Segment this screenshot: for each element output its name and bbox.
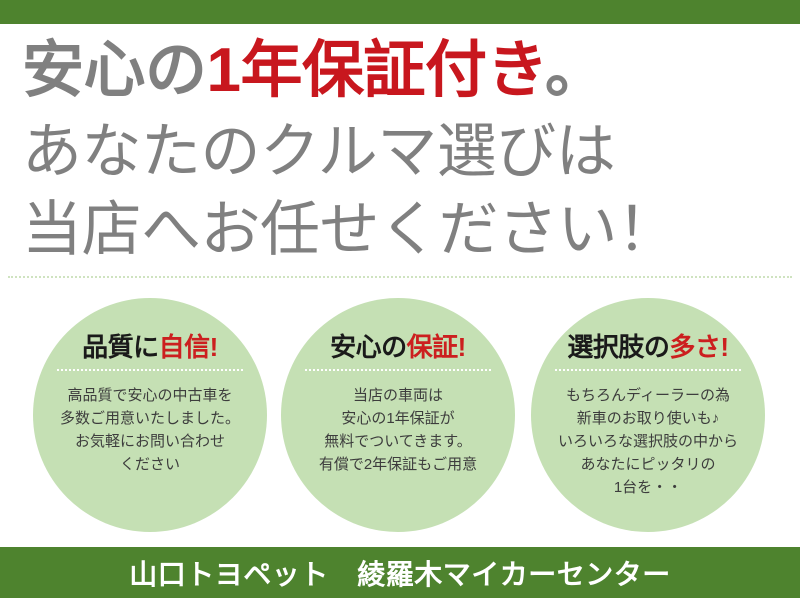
advertisement-banner: 安心の1年保証付き。 あなたのクルマ選びは 当店へお任せください！ 品質に自信!…	[0, 0, 800, 598]
feature-circle-warranty-title: 安心の保証!	[281, 332, 515, 362]
footer-bar: 山口トヨペット 綾羅木マイカーセンター	[0, 547, 800, 598]
headline-block: 安心の1年保証付き。 あなたのクルマ選びは 当店へお任せください！	[0, 24, 800, 268]
body-line: 1台を・・	[545, 476, 751, 499]
feature-circle-quality-title-accent: 自信!	[159, 332, 218, 362]
feature-circle-quality: 品質に自信! 高品質で安心の中古車を 多数ご用意いたしました。 お気軽にお問い合…	[33, 298, 267, 532]
feature-circle-selection-title: 選択肢の多さ!	[531, 332, 765, 362]
section-divider	[8, 276, 792, 278]
feature-circle-warranty-title-dark: 安心の	[330, 332, 407, 362]
feature-circle-warranty-rule	[305, 369, 491, 371]
body-line: もちろんディーラーの為	[545, 384, 751, 407]
feature-circle-warranty-body: 当店の車両は 安心の1年保証が 無料でついてきます。 有償で2年保証もご用意	[281, 384, 515, 476]
feature-circle-selection-title-accent: 多さ!	[669, 332, 728, 362]
body-line: あなたにピッタリの	[545, 453, 751, 476]
feature-circle-quality-title-dark: 品質に	[82, 332, 159, 362]
feature-circle-warranty: 安心の保証! 当店の車両は 安心の1年保証が 無料でついてきます。 有償で2年保…	[281, 298, 515, 532]
headline-line-2: あなたのクルマ選びは	[22, 116, 615, 188]
body-line: お気軽にお問い合わせ	[47, 430, 253, 453]
body-line: 高品質で安心の中古車を	[47, 384, 253, 407]
feature-circles: 品質に自信! 高品質で安心の中古車を 多数ご用意いたしました。 お気軽にお問い合…	[0, 298, 800, 534]
headline-line-3: 当店へお任せください！	[22, 194, 677, 266]
headline-line-1-accent: 1年保証付き	[207, 36, 545, 105]
feature-circle-quality-rule	[57, 369, 243, 371]
body-line: 無料でついてきます。	[295, 430, 501, 453]
top-accent-bar	[0, 0, 800, 24]
body-line: いろいろな選択肢の中から	[545, 430, 751, 453]
feature-circle-selection-body: もちろんディーラーの為 新車のお取り使いも♪ いろいろな選択肢の中から あなたに…	[531, 384, 765, 499]
body-line: 安心の1年保証が	[295, 407, 501, 430]
feature-circle-quality-body: 高品質で安心の中古車を 多数ご用意いたしました。 お気軽にお問い合わせ ください	[33, 384, 267, 476]
headline-line-1-prefix: 安心の	[22, 36, 207, 105]
feature-circle-selection-rule	[555, 369, 741, 371]
feature-circle-selection: 選択肢の多さ! もちろんディーラーの為 新車のお取り使いも♪ いろいろな選択肢の…	[531, 298, 765, 532]
body-line: ください	[47, 453, 253, 476]
feature-circle-selection-title-dark: 選択肢の	[567, 332, 669, 362]
body-line: 有償で2年保証もご用意	[295, 453, 501, 476]
dealership-name: 山口トヨペット 綾羅木マイカーセンター	[129, 553, 671, 593]
feature-circle-warranty-title-accent: 保証!	[407, 332, 466, 362]
headline-line-1: 安心の1年保証付き。	[22, 34, 606, 108]
headline-line-1-suffix: 。	[545, 36, 607, 105]
body-line: 多数ご用意いたしました。	[47, 407, 253, 430]
feature-circle-quality-title: 品質に自信!	[33, 332, 267, 362]
body-line: 新車のお取り使いも♪	[545, 407, 751, 430]
body-line: 当店の車両は	[295, 384, 501, 407]
